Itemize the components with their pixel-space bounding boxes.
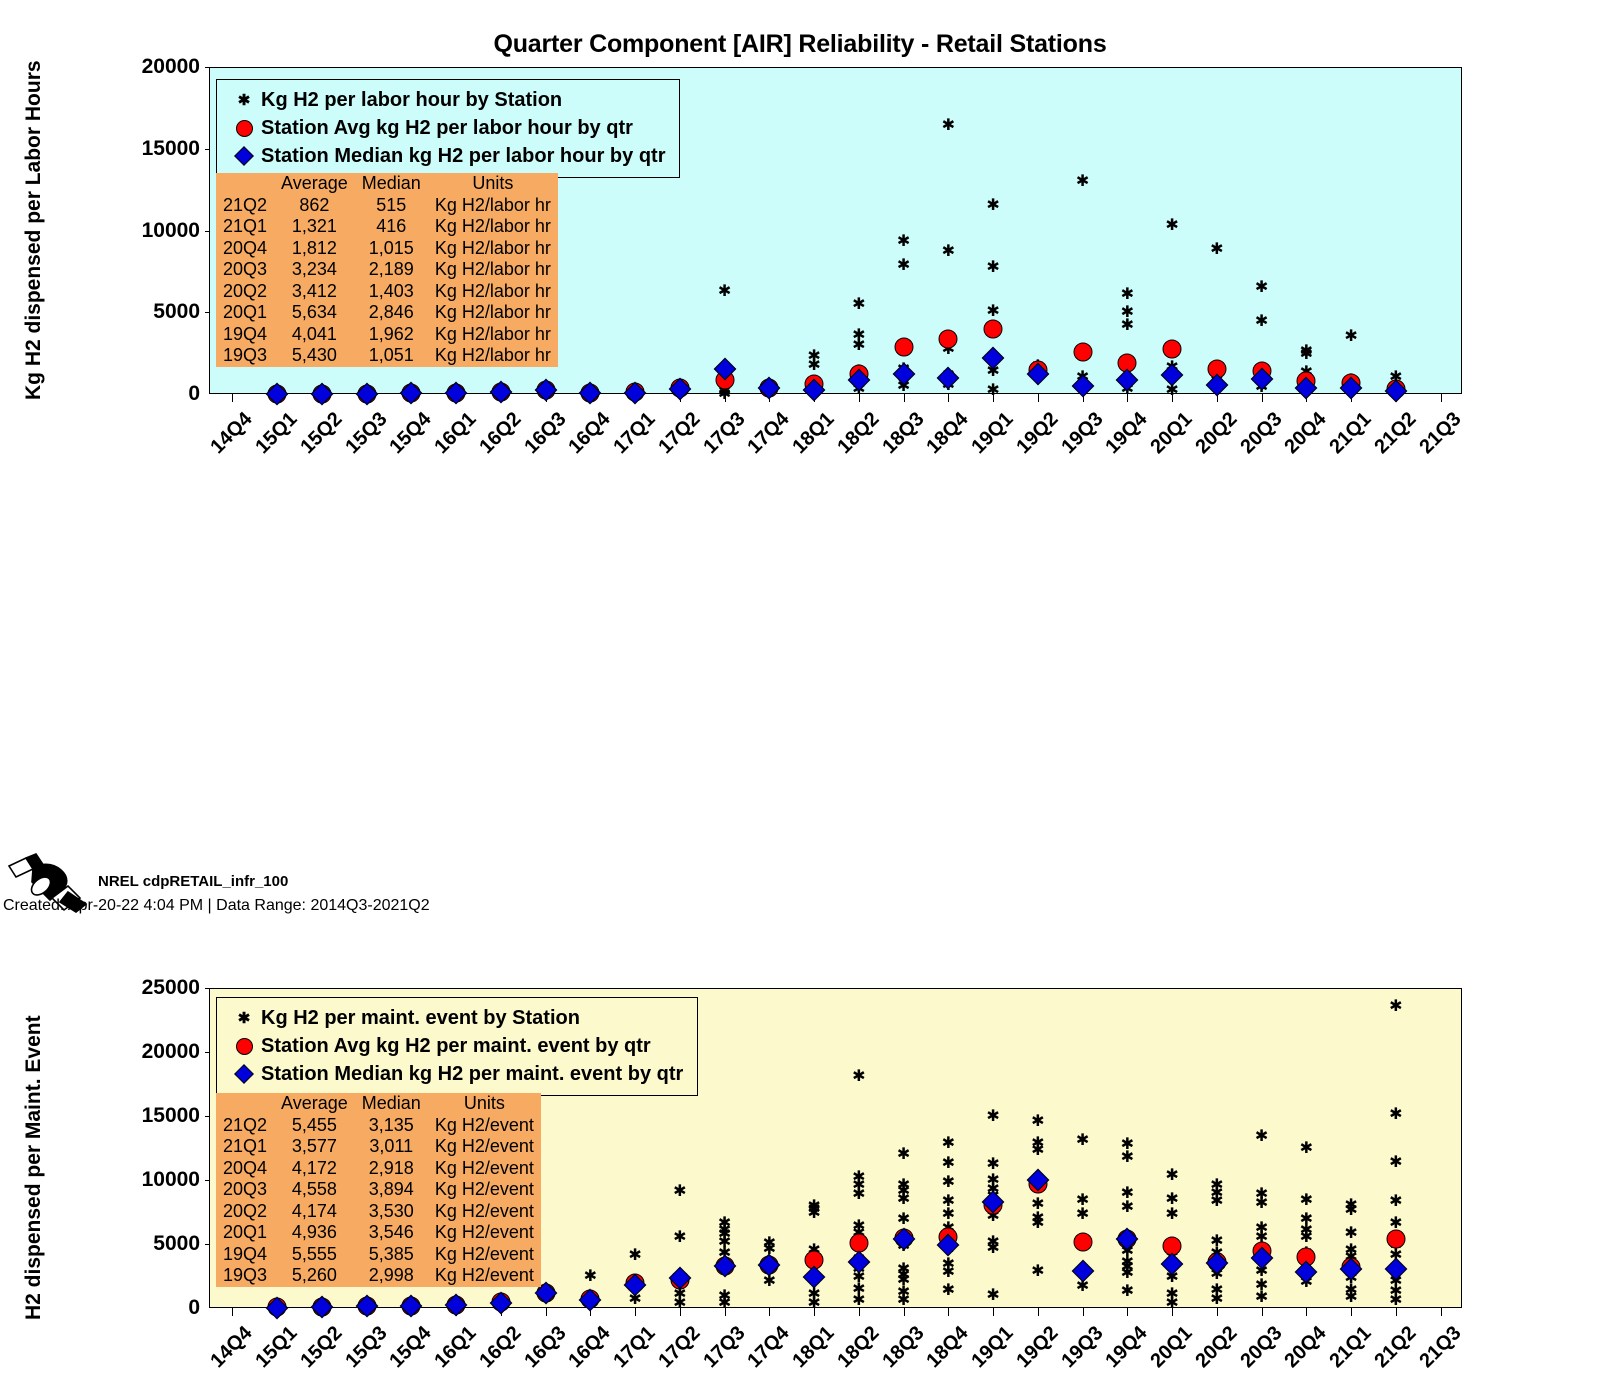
cell-units: Kg H2/event [428, 1158, 541, 1180]
x-tick-label: 17Q4 [744, 408, 795, 459]
y-tick-label: 20000 [100, 55, 200, 79]
x-tick-mark [1396, 1307, 1397, 1316]
cell-quarter: 19Q4 [216, 324, 274, 346]
cell-average: 5,430 [274, 345, 355, 367]
x-tick-mark [1083, 1307, 1084, 1316]
star-marker-icon: ✱ [1031, 1113, 1044, 1129]
x-tick-label: 20Q1 [1147, 1322, 1198, 1373]
x-tick-label: 18Q3 [878, 408, 929, 459]
star-marker-icon: ✱ [1300, 1140, 1313, 1156]
star-marker-icon: ✱ [1389, 1193, 1402, 1209]
x-tick-label: 19Q1 [968, 408, 1019, 459]
x-tick-mark [1262, 1307, 1263, 1316]
x-tick-label: 15Q1 [252, 408, 303, 459]
x-tick-mark [232, 1307, 233, 1316]
x-tick-label: 20Q3 [1236, 408, 1287, 459]
star-marker-icon: ✱ [897, 1211, 910, 1227]
table-row: 20Q15,6342,846Kg H2/labor hr [216, 302, 558, 324]
table-row: 20Q41,8121,015Kg H2/labor hr [216, 238, 558, 260]
x-tick-label: 15Q3 [341, 1322, 392, 1373]
y-tick-label: 0 [100, 1296, 200, 1320]
x-tick-mark [993, 1307, 994, 1316]
cell-median: 416 [355, 216, 428, 238]
x-tick-mark [948, 1307, 949, 1316]
star-marker-icon: ✱ [852, 1292, 865, 1308]
y-tick-label: 5000 [100, 300, 200, 324]
y-axis-title-bottom: H2 dispensed per Maint. Event [22, 1015, 46, 1320]
cell-quarter: 21Q1 [216, 1136, 274, 1158]
cell-units: Kg H2/labor hr [428, 238, 558, 260]
cell-median: 2,918 [355, 1158, 428, 1180]
circle-marker-icon [1073, 343, 1092, 362]
cell-average: 5,634 [274, 302, 355, 324]
star-marker-icon: ✱ [1344, 1225, 1357, 1241]
star-marker-icon: ✱ [986, 1240, 999, 1256]
x-tick-mark [1038, 393, 1039, 402]
star-marker-icon: ✱ [942, 1264, 955, 1280]
cell-units: Kg H2/event [428, 1222, 541, 1244]
cell-units: Kg H2/labor hr [428, 259, 558, 281]
cell-average: 4,936 [274, 1222, 355, 1244]
x-tick-label: 16Q4 [565, 408, 616, 459]
cell-quarter: 21Q2 [216, 195, 274, 217]
table-row: 19Q35,4301,051Kg H2/labor hr [216, 345, 558, 367]
star-marker-icon: ✱ [673, 1229, 686, 1245]
star-marker-icon: ✱ [986, 197, 999, 213]
cell-median: 5,385 [355, 1244, 428, 1266]
cell-average: 1,812 [274, 238, 355, 260]
cell-median: 3,894 [355, 1179, 428, 1201]
star-marker-icon: ✱ [807, 1205, 820, 1221]
cell-average: 3,577 [274, 1136, 355, 1158]
star-marker-icon: ✱ [1255, 313, 1268, 329]
star-marker-icon: ✱ [238, 93, 251, 108]
cell-quarter: 21Q1 [216, 216, 274, 238]
cell-units: Kg H2/labor hr [428, 216, 558, 238]
legend-item-label: Kg H2 per maint. event by Station [261, 1007, 580, 1030]
cell-average: 3,412 [274, 281, 355, 303]
x-tick-mark [948, 393, 949, 402]
star-marker-icon: ✱ [1300, 1229, 1313, 1245]
x-tick-label: 18Q2 [833, 408, 884, 459]
x-tick-label: 14Q4 [207, 1322, 258, 1373]
x-tick-label: 17Q4 [744, 1322, 795, 1373]
star-marker-icon: ✱ [942, 1155, 955, 1171]
x-tick-label: 18Q4 [923, 408, 974, 459]
cell-units: Kg H2/labor hr [428, 324, 558, 346]
cell-quarter: 19Q3 [216, 345, 274, 367]
panel-labor-hours: Kg H2 dispensed per Labor Hours 05000100… [0, 0, 1600, 470]
diamond-legend-swatch [227, 149, 261, 163]
cell-units: Kg H2/event [428, 1115, 541, 1137]
star-marker-icon: ✱ [1121, 1199, 1134, 1215]
x-tick-label: 20Q4 [1281, 1322, 1332, 1373]
cell-average: 4,172 [274, 1158, 355, 1180]
column-header: Median [355, 173, 428, 195]
column-header: Units [428, 173, 558, 195]
star-marker-icon: ✱ [852, 296, 865, 312]
cell-median: 3,135 [355, 1115, 428, 1137]
table-row: 20Q44,1722,918Kg H2/event [216, 1158, 541, 1180]
y-axis-ticks-bottom: 0500010000150002000025000 [95, 988, 200, 1308]
y-axis-title-top: Kg H2 dispensed per Labor Hours [22, 60, 46, 400]
star-marker-icon: ✱ [1165, 1191, 1178, 1207]
legend-item-label: Station Median kg H2 per labor hour by q… [261, 145, 665, 168]
cell-units: Kg H2/labor hr [428, 281, 558, 303]
x-tick-mark [635, 1307, 636, 1316]
cell-quarter: 20Q3 [216, 259, 274, 281]
star-marker-icon: ✱ [1389, 998, 1402, 1014]
x-tick-mark [859, 1307, 860, 1316]
table-header-row: AverageMedianUnits [216, 173, 558, 195]
cell-median: 2,846 [355, 302, 428, 324]
x-tick-mark [904, 1307, 905, 1316]
star-marker-icon: ✱ [1121, 286, 1134, 302]
column-header [216, 173, 274, 195]
star-marker-icon: ✱ [897, 233, 910, 249]
star-marker-icon: ✱ [718, 283, 731, 299]
star-marker-icon: ✱ [852, 1186, 865, 1202]
circle-marker-icon [236, 1038, 253, 1055]
star-marker-icon: ✱ [1076, 173, 1089, 189]
created-timestamp: Created: Apr-20-22 4:04 PM | Data Range:… [3, 897, 430, 915]
star-marker-icon: ✱ [807, 1295, 820, 1311]
cell-quarter: 20Q3 [216, 1179, 274, 1201]
star-marker-icon: ✱ [986, 303, 999, 319]
star-marker-icon: ✱ [942, 1174, 955, 1190]
y-tick-label: 10000 [100, 219, 200, 243]
star-marker-icon: ✱ [1255, 1128, 1268, 1144]
x-tick-label: 19Q4 [1102, 1322, 1153, 1373]
cell-quarter: 19Q4 [216, 1244, 274, 1266]
x-tick-label: 17Q2 [654, 408, 705, 459]
star-marker-icon: ✱ [852, 337, 865, 353]
star-marker-icon: ✱ [1210, 1193, 1223, 1209]
star-marker-icon: ✱ [942, 1135, 955, 1151]
cell-quarter: 20Q2 [216, 1201, 274, 1223]
cell-average: 4,558 [274, 1179, 355, 1201]
x-tick-label: 17Q1 [610, 408, 661, 459]
x-tick-label: 15Q4 [386, 408, 437, 459]
cell-units: Kg H2/event [428, 1179, 541, 1201]
x-tick-label: 21Q2 [1370, 1322, 1421, 1373]
star-marker-icon: ✱ [584, 1268, 597, 1284]
star-marker-icon: ✱ [238, 1011, 251, 1026]
table-row: 20Q34,5583,894Kg H2/event [216, 1179, 541, 1201]
x-tick-label: 21Q1 [1326, 1322, 1377, 1373]
legend-maint-event: ✱Kg H2 per maint. event by StationStatio… [216, 997, 698, 1096]
x-tick-label: 14Q4 [207, 408, 258, 459]
x-tick-label: 15Q2 [296, 1322, 347, 1373]
x-tick-label: 21Q1 [1326, 408, 1377, 459]
legend-labor-hours: ✱Kg H2 per labor hour by StationStation … [216, 79, 680, 178]
star-legend-swatch: ✱ [227, 93, 261, 108]
x-tick-label: 21Q2 [1370, 408, 1421, 459]
x-tick-label: 16Q1 [431, 408, 482, 459]
x-tick-label: 15Q2 [296, 408, 347, 459]
column-header [216, 1093, 274, 1115]
x-tick-mark [1127, 1307, 1128, 1316]
star-marker-icon: ✱ [1210, 1291, 1223, 1307]
x-tick-label: 15Q3 [341, 408, 392, 459]
x-tick-label: 19Q2 [1012, 408, 1063, 459]
x-tick-label: 21Q3 [1415, 1322, 1466, 1373]
cell-median: 3,011 [355, 1136, 428, 1158]
diamond-legend-swatch [227, 1067, 261, 1081]
x-tick-label: 17Q2 [654, 1322, 705, 1373]
x-tick-label: 20Q1 [1147, 408, 1198, 459]
x-tick-mark [1441, 393, 1442, 402]
star-marker-icon: ✱ [673, 1183, 686, 1199]
cell-average: 3,234 [274, 259, 355, 281]
circle-marker-icon [939, 329, 958, 348]
cell-median: 1,962 [355, 324, 428, 346]
x-tick-label: 15Q4 [386, 1322, 437, 1373]
star-marker-icon: ✱ [1121, 1149, 1134, 1165]
cell-quarter: 20Q2 [216, 281, 274, 303]
y-tick-label: 0 [100, 382, 200, 406]
y-tick-label: 10000 [100, 1168, 200, 1192]
circle-marker-icon [1386, 1230, 1405, 1249]
x-tick-label: 20Q4 [1281, 408, 1332, 459]
cell-average: 5,555 [274, 1244, 355, 1266]
x-tick-label: 18Q3 [878, 1322, 929, 1373]
star-marker-icon: ✱ [1389, 1292, 1402, 1308]
x-tick-mark [769, 1307, 770, 1316]
table-row: 20Q14,9363,546Kg H2/event [216, 1222, 541, 1244]
x-tick-label: 17Q3 [699, 1322, 750, 1373]
x-tick-mark [1306, 1307, 1307, 1316]
diamond-marker-icon [234, 1064, 254, 1084]
y-tick-label: 15000 [100, 137, 200, 161]
star-marker-icon: ✱ [897, 257, 910, 273]
legend-item[interactable]: Station Avg kg H2 per maint. event by qt… [227, 1032, 683, 1060]
legend-item[interactable]: ✱Kg H2 per labor hour by Station [227, 86, 665, 114]
table-header-row: AverageMedianUnits [216, 1093, 541, 1115]
star-marker-icon: ✱ [1210, 241, 1223, 257]
legend-item[interactable]: Station Median kg H2 per maint. event by… [227, 1060, 683, 1088]
cell-median: 1,015 [355, 238, 428, 260]
cell-average: 1,321 [274, 216, 355, 238]
cell-quarter: 20Q1 [216, 302, 274, 324]
cell-units: Kg H2/labor hr [428, 302, 558, 324]
star-marker-icon: ✱ [1031, 1215, 1044, 1231]
x-tick-label: 19Q4 [1102, 408, 1153, 459]
star-legend-swatch: ✱ [227, 1011, 261, 1026]
column-header: Average [274, 1093, 355, 1115]
star-marker-icon: ✱ [897, 1191, 910, 1207]
x-tick-label: 16Q2 [475, 408, 526, 459]
star-marker-icon: ✱ [1300, 346, 1313, 362]
circle-marker-icon [1073, 1232, 1092, 1251]
x-tick-mark [1217, 1307, 1218, 1316]
star-marker-icon: ✱ [718, 1295, 731, 1311]
cell-median: 2,998 [355, 1265, 428, 1287]
cell-average: 5,455 [274, 1115, 355, 1137]
star-marker-icon: ✱ [986, 1108, 999, 1124]
star-marker-icon: ✱ [986, 382, 999, 398]
column-header: Units [428, 1093, 541, 1115]
report-id: NREL cdpRETAIL_infr_100 [98, 873, 288, 890]
star-marker-icon: ✱ [986, 259, 999, 275]
cell-units: Kg H2/event [428, 1136, 541, 1158]
legend-item[interactable]: Station Avg kg H2 per labor hour by qtr [227, 114, 665, 142]
x-tick-label: 20Q2 [1191, 408, 1242, 459]
cell-average: 4,041 [274, 324, 355, 346]
legend-item-label: Kg H2 per labor hour by Station [261, 89, 562, 112]
legend-item-label: Station Avg kg H2 per labor hour by qtr [261, 117, 633, 140]
star-marker-icon: ✱ [1255, 279, 1268, 295]
cell-median: 1,051 [355, 345, 428, 367]
stats-table-labor-hours: AverageMedianUnits21Q2862515Kg H2/labor … [216, 173, 558, 367]
star-marker-icon: ✱ [1389, 1106, 1402, 1122]
table-row: 20Q23,4121,403Kg H2/labor hr [216, 281, 558, 303]
star-marker-icon: ✱ [852, 1068, 865, 1084]
star-marker-icon: ✱ [1076, 1206, 1089, 1222]
stats-table-maint-event: AverageMedianUnits21Q25,4553,135Kg H2/ev… [216, 1093, 541, 1287]
x-tick-mark [232, 393, 233, 402]
circle-marker-icon [236, 120, 253, 137]
table-row: 19Q45,5555,385Kg H2/event [216, 1244, 541, 1266]
star-marker-icon: ✱ [1344, 328, 1357, 344]
star-marker-icon: ✱ [1121, 1283, 1134, 1299]
star-marker-icon: ✱ [1121, 1265, 1134, 1281]
star-marker-icon: ✱ [1076, 1132, 1089, 1148]
cell-units: Kg H2/event [428, 1244, 541, 1266]
star-marker-icon: ✱ [1389, 1154, 1402, 1170]
cell-quarter: 20Q1 [216, 1222, 274, 1244]
cell-average: 862 [274, 195, 355, 217]
circle-legend-swatch [227, 120, 261, 137]
star-marker-icon: ✱ [897, 1146, 910, 1162]
x-tick-label: 17Q1 [610, 1322, 661, 1373]
y-tick-label: 5000 [100, 1232, 200, 1256]
star-marker-icon: ✱ [942, 117, 955, 133]
star-marker-icon: ✱ [1165, 1295, 1178, 1311]
star-marker-icon: ✱ [1031, 1263, 1044, 1279]
x-tick-mark [1441, 1307, 1442, 1316]
star-marker-icon: ✱ [1121, 317, 1134, 333]
star-marker-icon: ✱ [807, 357, 820, 373]
star-marker-icon: ✱ [897, 1292, 910, 1308]
cell-units: Kg H2/labor hr [428, 345, 558, 367]
x-tick-label: 16Q3 [520, 1322, 571, 1373]
cell-median: 3,546 [355, 1222, 428, 1244]
x-tick-label: 20Q2 [1191, 1322, 1242, 1373]
table-row: 21Q25,4553,135Kg H2/event [216, 1115, 541, 1137]
x-tick-mark [1351, 1307, 1352, 1316]
cell-average: 5,260 [274, 1265, 355, 1287]
x-tick-label: 18Q2 [833, 1322, 884, 1373]
cell-quarter: 19Q3 [216, 1265, 274, 1287]
x-tick-label: 18Q1 [789, 408, 840, 459]
circle-marker-icon [1163, 340, 1182, 359]
star-marker-icon: ✱ [1121, 1185, 1134, 1201]
star-marker-icon: ✱ [1300, 1192, 1313, 1208]
x-tick-mark [1038, 1307, 1039, 1316]
cell-units: Kg H2/event [428, 1265, 541, 1287]
y-axis-ticks-top: 05000100001500020000 [95, 67, 200, 394]
column-header: Median [355, 1093, 428, 1115]
cell-average: 4,174 [274, 1201, 355, 1223]
star-marker-icon: ✱ [1255, 1195, 1268, 1211]
star-marker-icon: ✱ [673, 1295, 686, 1311]
circle-marker-icon [984, 319, 1003, 338]
x-tick-label: 18Q1 [789, 1322, 840, 1373]
star-marker-icon: ✱ [986, 1156, 999, 1172]
column-header: Average [274, 173, 355, 195]
cell-median: 2,189 [355, 259, 428, 281]
legend-item[interactable]: ✱Kg H2 per maint. event by Station [227, 1004, 683, 1032]
table-row: 19Q35,2602,998Kg H2/event [216, 1265, 541, 1287]
cell-quarter: 20Q4 [216, 238, 274, 260]
diamond-marker-icon [234, 146, 254, 166]
x-tick-label: 19Q1 [968, 1322, 1019, 1373]
x-tick-label: 16Q1 [431, 1322, 482, 1373]
star-marker-icon: ✱ [942, 1282, 955, 1298]
cell-quarter: 21Q2 [216, 1115, 274, 1137]
y-tick-label: 20000 [100, 1040, 200, 1064]
star-marker-icon: ✱ [986, 1287, 999, 1303]
x-tick-label: 19Q3 [1057, 1322, 1108, 1373]
x-tick-label: 16Q3 [520, 408, 571, 459]
x-tick-label: 18Q4 [923, 1322, 974, 1373]
star-marker-icon: ✱ [1031, 1142, 1044, 1158]
star-marker-icon: ✱ [1165, 1167, 1178, 1183]
star-marker-icon: ✱ [628, 1247, 641, 1263]
x-tick-label: 15Q1 [252, 1322, 303, 1373]
star-marker-icon: ✱ [1344, 1202, 1357, 1218]
circle-marker-icon [894, 337, 913, 356]
star-marker-icon: ✱ [942, 243, 955, 259]
table-row: 19Q44,0411,962Kg H2/labor hr [216, 324, 558, 346]
y-tick-label: 15000 [100, 1104, 200, 1128]
star-marker-icon: ✱ [1344, 1289, 1357, 1305]
cell-quarter: 20Q4 [216, 1158, 274, 1180]
legend-item-label: Station Avg kg H2 per maint. event by qt… [261, 1035, 651, 1058]
legend-item-label: Station Median kg H2 per maint. event by… [261, 1063, 683, 1086]
x-tick-label: 21Q3 [1415, 408, 1466, 459]
cell-median: 3,530 [355, 1201, 428, 1223]
x-tick-label: 16Q4 [565, 1322, 616, 1373]
circle-legend-swatch [227, 1038, 261, 1055]
star-marker-icon: ✱ [1165, 1206, 1178, 1222]
x-tick-label: 20Q3 [1236, 1322, 1287, 1373]
table-row: 20Q33,2342,189Kg H2/labor hr [216, 259, 558, 281]
x-tick-label: 16Q2 [475, 1322, 526, 1373]
star-marker-icon: ✱ [1165, 217, 1178, 233]
x-tick-label: 19Q2 [1012, 1322, 1063, 1373]
table-row: 21Q13,5773,011Kg H2/event [216, 1136, 541, 1158]
table-row: 20Q24,1743,530Kg H2/event [216, 1201, 541, 1223]
cell-median: 1,403 [355, 281, 428, 303]
cell-units: Kg H2/event [428, 1201, 541, 1223]
y-tick-label: 25000 [100, 976, 200, 1000]
x-tick-label: 17Q3 [699, 408, 750, 459]
x-tick-mark [546, 1307, 547, 1316]
table-row: 21Q11,321416Kg H2/labor hr [216, 216, 558, 238]
cell-units: Kg H2/labor hr [428, 195, 558, 217]
cell-median: 515 [355, 195, 428, 217]
legend-item[interactable]: Station Median kg H2 per labor hour by q… [227, 142, 665, 170]
star-marker-icon: ✱ [1255, 1289, 1268, 1305]
table-row: 21Q2862515Kg H2/labor hr [216, 195, 558, 217]
x-tick-label: 19Q3 [1057, 408, 1108, 459]
